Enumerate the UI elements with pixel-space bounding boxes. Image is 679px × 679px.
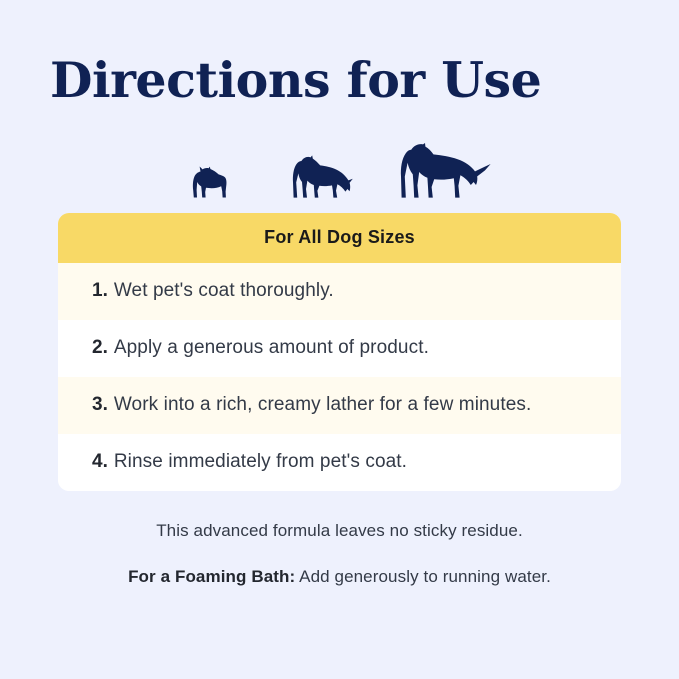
foaming-bath-label: For a Foaming Bath: (128, 567, 295, 586)
step-row: 2. Apply a generous amount of product. (58, 320, 621, 377)
step-number: 4. (92, 451, 108, 473)
medium-dog-silhouette (291, 155, 361, 199)
step-text: Wet pet's coat thoroughly. (114, 280, 334, 302)
step-number: 2. (92, 337, 108, 359)
step-text: Apply a generous amount of product. (114, 337, 429, 359)
small-dog-silhouette (191, 166, 233, 199)
step-row: 1. Wet pet's coat thoroughly. (58, 263, 621, 320)
page-title: Directions for Use (50, 54, 541, 108)
step-row: 4. Rinse immediately from pet's coat. (58, 434, 621, 491)
directions-for-use-panel: Directions for Use For All Dog Sizes 1. … (0, 0, 679, 679)
step-text: Work into a rich, creamy lather for a fe… (114, 394, 532, 416)
step-number: 3. (92, 394, 108, 416)
step-text: Rinse immediately from pet's coat. (114, 451, 407, 473)
foaming-bath-text: Add generously to running water. (295, 567, 551, 586)
large-dog-silhouette (397, 143, 492, 199)
foaming-bath-note: For a Foaming Bath: Add generously to ru… (0, 567, 679, 587)
residue-note: This advanced formula leaves no sticky r… (0, 521, 679, 541)
dog-size-illustration (0, 137, 679, 199)
step-row: 3. Work into a rich, creamy lather for a… (58, 377, 621, 434)
card-header-title: For All Dog Sizes (58, 213, 621, 263)
step-number: 1. (92, 280, 108, 302)
directions-card: For All Dog Sizes 1. Wet pet's coat thor… (58, 213, 621, 491)
